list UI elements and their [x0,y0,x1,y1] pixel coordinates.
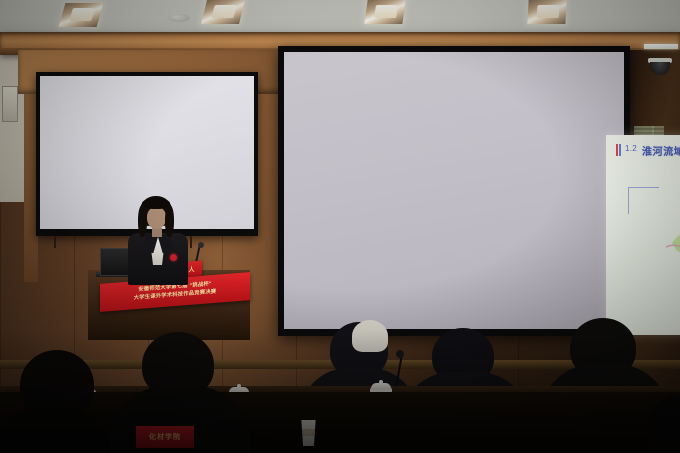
microphone-head-icon [396,350,404,358]
presenter-badge [170,254,177,261]
ceiling-light-icon [59,3,104,27]
slide-title-row: 1.2 淮河流域概况 [616,143,680,159]
slide-title-number: 1.2 [625,144,637,153]
front-row-nameplate-label: 化材学院 [149,432,181,442]
conference-hall-photo: 1.2 淮河流域概况 概述 研究背景 研究内容 研究方法 结论 [0,0,680,453]
ceiling-light-icon [201,0,245,24]
slide-decor-bracket [628,187,659,214]
ceiling-light-icon [364,0,405,24]
screen-hook [190,236,192,248]
title-accent-bar-icon [619,144,621,156]
presenter-hair-side [165,205,174,237]
tube-light-icon [644,44,678,49]
presenter-neck [152,228,162,237]
powerpoint-slide: 1.2 淮河流域概况 概述 研究背景 研究内容 研究方法 结论 [606,135,680,335]
slide-title-text: 淮河流域概况 [642,143,680,158]
screen-hook [54,236,56,248]
main-projection-screen: 1.2 淮河流域概况 概述 研究背景 研究内容 研究方法 结论 [284,52,624,329]
ceiling-light-icon [527,0,566,24]
title-accent-bar-icon [616,144,618,156]
presenter-face [147,207,166,229]
presenter-hair-side [138,205,147,237]
wall-switch-panel [2,86,18,122]
smoke-detector-icon [168,14,190,22]
front-row-nameplate: 化材学院 [136,426,194,448]
river-basin-map-icon [658,217,680,269]
microphone-head-icon [198,242,204,248]
audience-member-hair-light [352,320,388,352]
